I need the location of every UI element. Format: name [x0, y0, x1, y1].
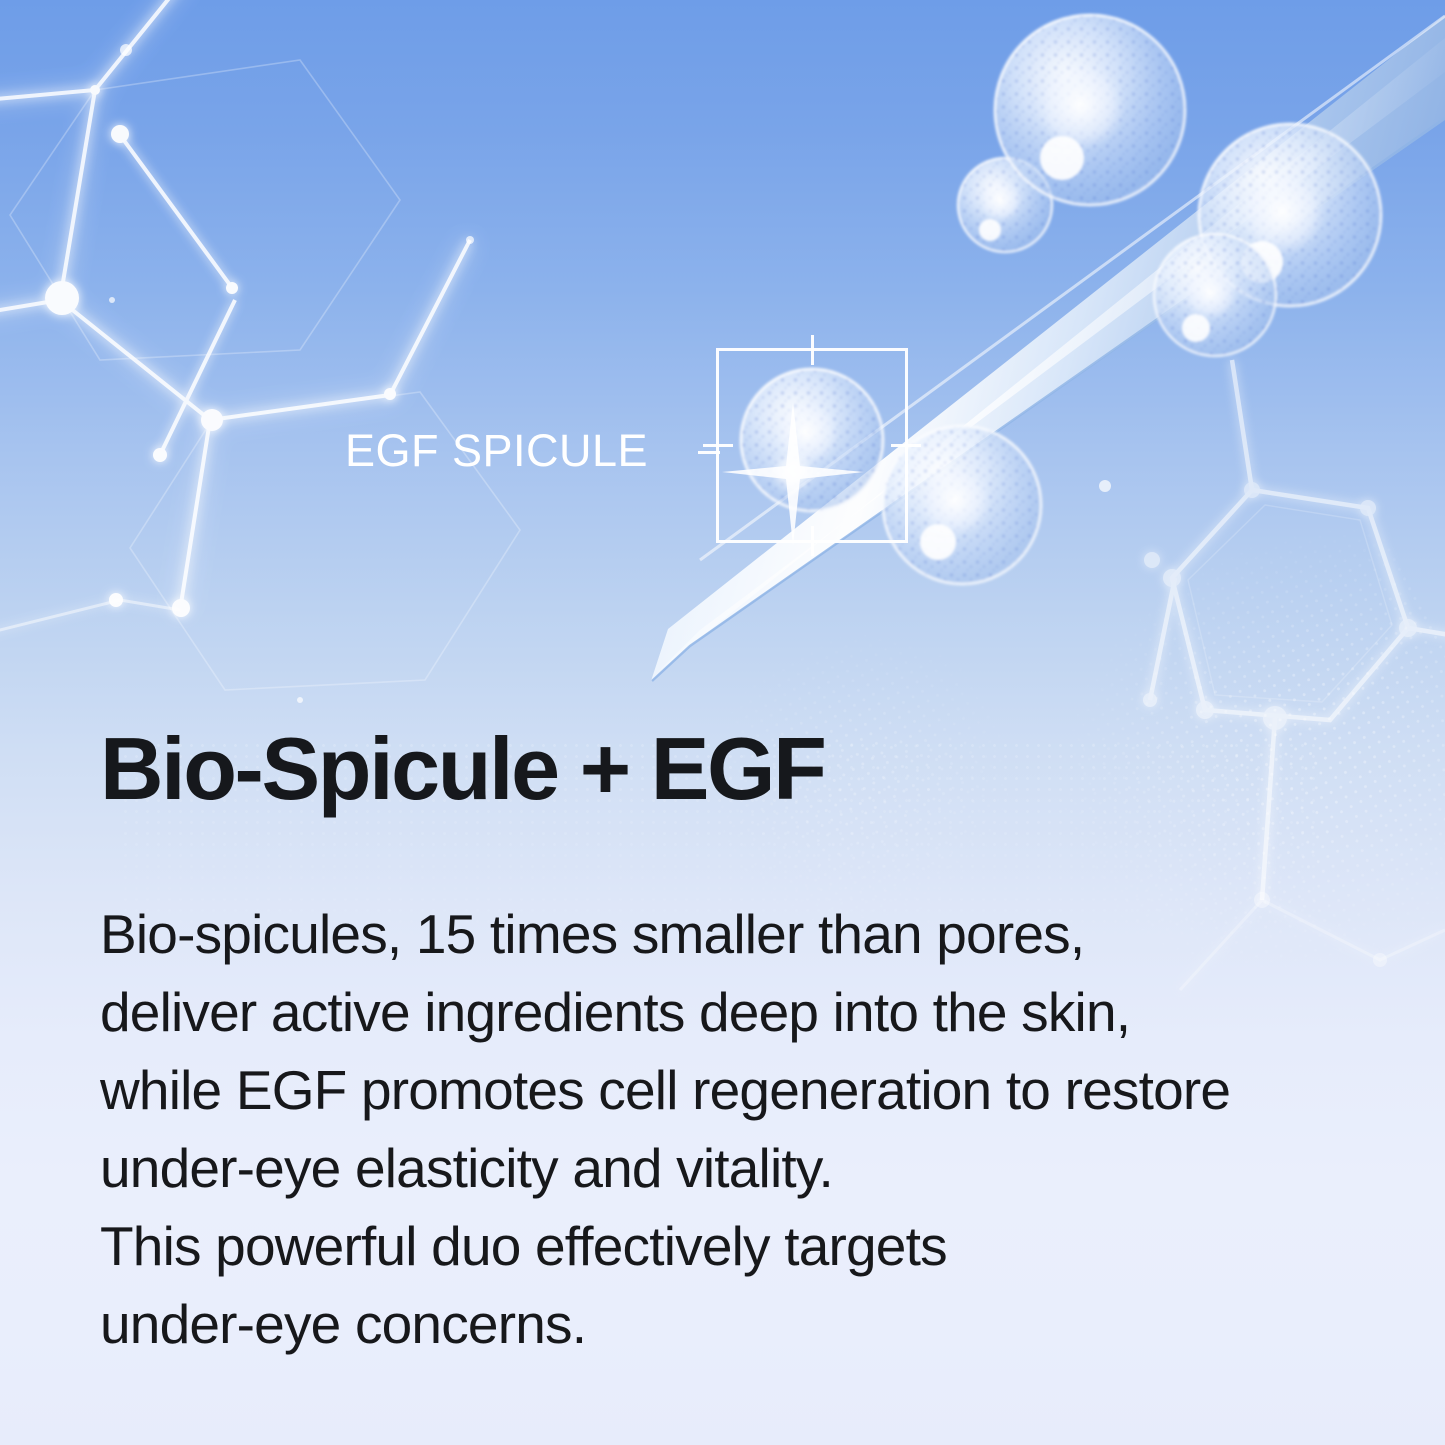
callout-leader-tick	[698, 451, 720, 454]
body-line: under-eye elasticity and vitality.	[100, 1129, 1230, 1207]
sparkle-flare-icon	[722, 402, 864, 546]
egf-spicule-callout-label: EGF SPICULE	[345, 425, 648, 477]
product-description: Bio-spicules, 15 times smaller than pore…	[100, 895, 1230, 1363]
product-feature-banner: EGF SPICULE Bio-Spicule + EGF Bio-spicul…	[0, 0, 1445, 1445]
targeting-reticle	[716, 348, 908, 543]
needle-shaft	[651, 15, 1445, 681]
body-line: under-eye concerns.	[100, 1285, 1230, 1363]
hexagon-cluster-top-left	[0, 0, 520, 690]
body-line: This powerful duo effectively targets	[100, 1207, 1230, 1285]
spicule-bubble-large-right	[1198, 123, 1382, 307]
body-line: deliver active ingredients deep into the…	[100, 973, 1230, 1051]
spicule-bubble-right-lower	[882, 425, 1042, 585]
spicule-bubble-medium-lower	[1153, 233, 1277, 357]
hexagon-cluster-right	[1143, 360, 1445, 900]
body-line: while EGF promotes cell regeneration to …	[100, 1051, 1230, 1129]
sparkle-dots	[109, 44, 1111, 703]
spicule-bubble-reticle-center	[740, 368, 884, 512]
page-title: Bio-Spicule + EGF	[100, 718, 824, 820]
spicule-bubble-large-top	[994, 14, 1186, 206]
reticle-tick-bottom	[811, 526, 814, 556]
reticle-tick-left	[703, 444, 733, 447]
spicule-bubble-small-left	[957, 157, 1053, 253]
body-line: Bio-spicules, 15 times smaller than pore…	[100, 895, 1230, 973]
hexagon-line-left-lower	[0, 600, 180, 640]
reticle-tick-right	[891, 444, 921, 447]
reticle-tick-top	[811, 335, 814, 365]
